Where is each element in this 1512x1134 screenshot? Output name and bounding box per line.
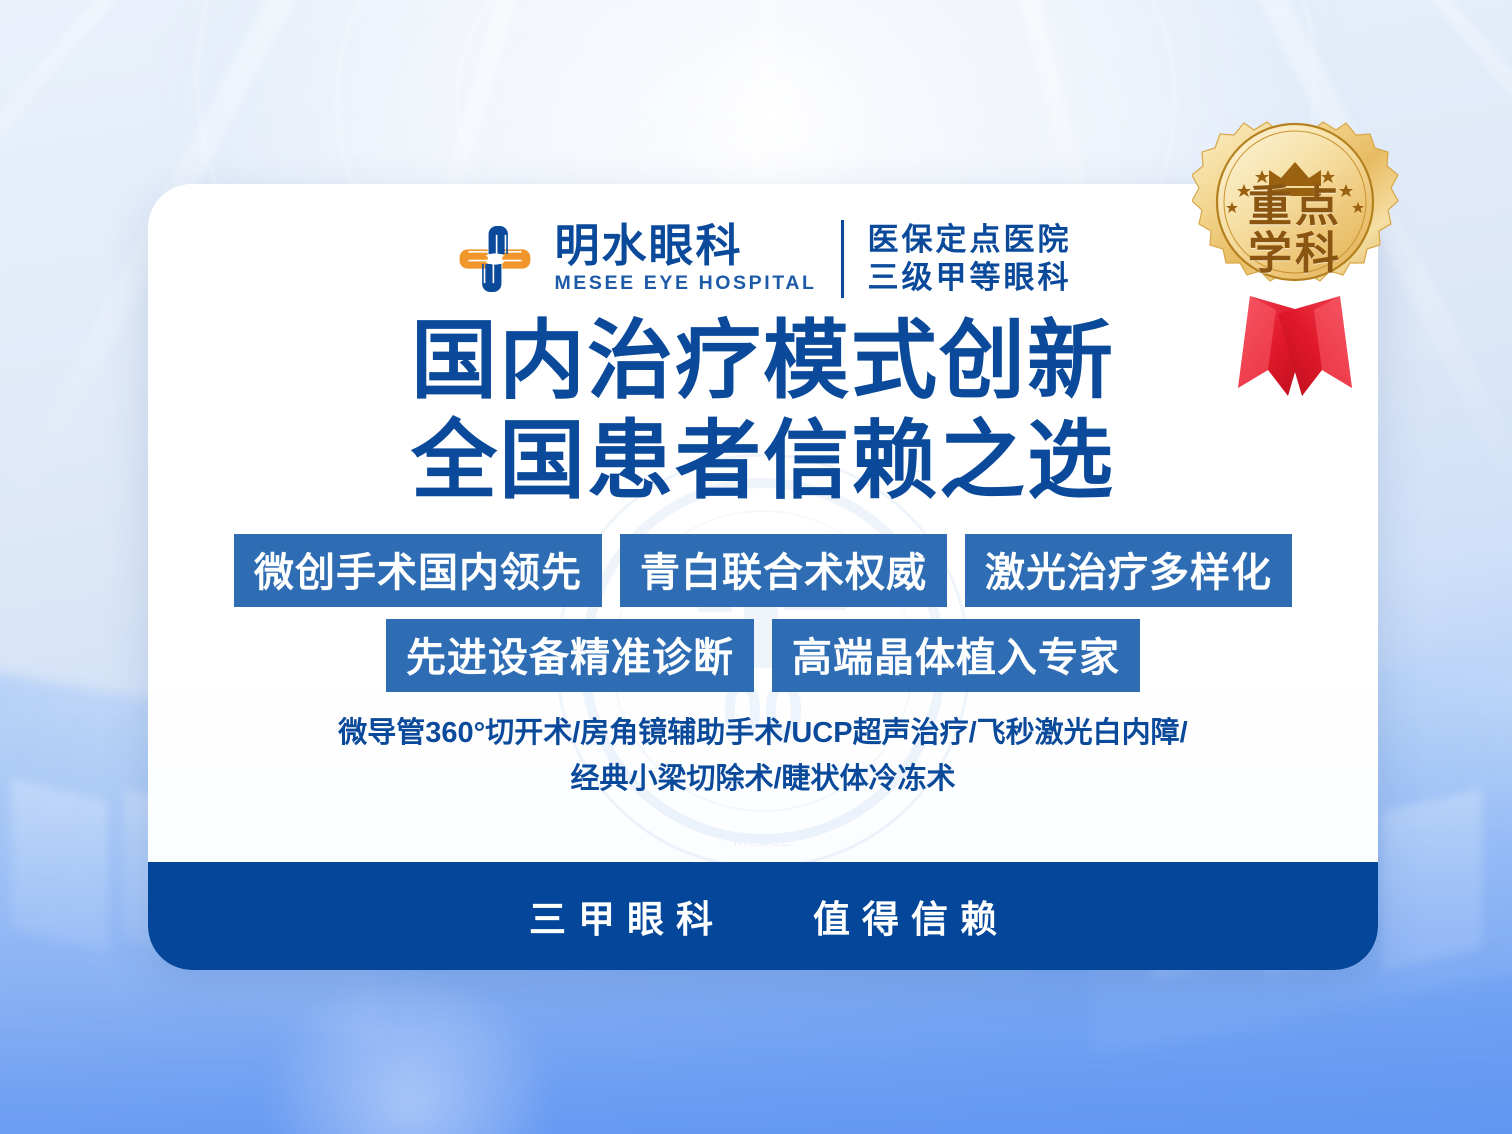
feature-tags: 微创手术国内领先 青白联合术权威 激光治疗多样化 先进设备精准诊断 高端晶体植入… <box>148 534 1378 692</box>
ribbon-icon <box>1238 296 1352 396</box>
credential-line-2: 三级甲等眼科 <box>868 262 1072 294</box>
feature-tag[interactable]: 青白联合术权威 <box>620 534 947 607</box>
procedures-line-1: 微导管360°切开术/房角镜辅助手术/UCP超声治疗/飞秒激光白内障/ <box>148 710 1378 757</box>
mesee-pinwheel-cross-logo-icon <box>454 222 536 296</box>
hospital-credentials: 医保定点医院 三级甲等眼科 <box>868 224 1072 294</box>
feature-tag-row-1: 微创手术国内领先 青白联合术权威 激光治疗多样化 <box>148 534 1378 607</box>
feature-tag-row-2: 先进设备精准诊断 高端晶体植入专家 <box>148 619 1378 692</box>
procedures-line-2: 经典小梁切除术/睫状体冷冻术 <box>148 756 1378 803</box>
feature-tag[interactable]: 先进设备精准诊断 <box>386 619 754 692</box>
bottom-slogan-bar: 三甲眼科 值得信赖 <box>148 862 1378 970</box>
background-highlight <box>640 20 900 210</box>
logo-name-en: MESEE EYE HOSPITAL <box>554 272 816 295</box>
procedures-description: 微导管360°切开术/房角镜辅助手术/UCP超声治疗/飞秒激光白内障/ 经典小梁… <box>148 710 1378 804</box>
credential-line-1: 医保定点医院 <box>868 224 1072 256</box>
slogan-right: 值得信赖 <box>801 889 1009 943</box>
headline-line-2: 全国患者信赖之选 <box>148 412 1378 512</box>
logo-wordmark: 明水眼科 MESEE EYE HOSPITAL <box>554 223 816 296</box>
award-badge: 重点 学科 <box>1192 118 1442 418</box>
feature-tag[interactable]: 激光治疗多样化 <box>965 534 1292 607</box>
feature-tag[interactable]: 高端晶体植入专家 <box>772 619 1140 692</box>
logo-divider <box>841 220 844 298</box>
svg-text:MESEE: MESEE <box>733 831 793 850</box>
award-seal-icon <box>1192 118 1442 418</box>
slogan-left: 三甲眼科 <box>517 889 725 943</box>
logo-name-cn: 明水眼科 <box>554 223 816 269</box>
feature-tag[interactable]: 微创手术国内领先 <box>234 534 602 607</box>
